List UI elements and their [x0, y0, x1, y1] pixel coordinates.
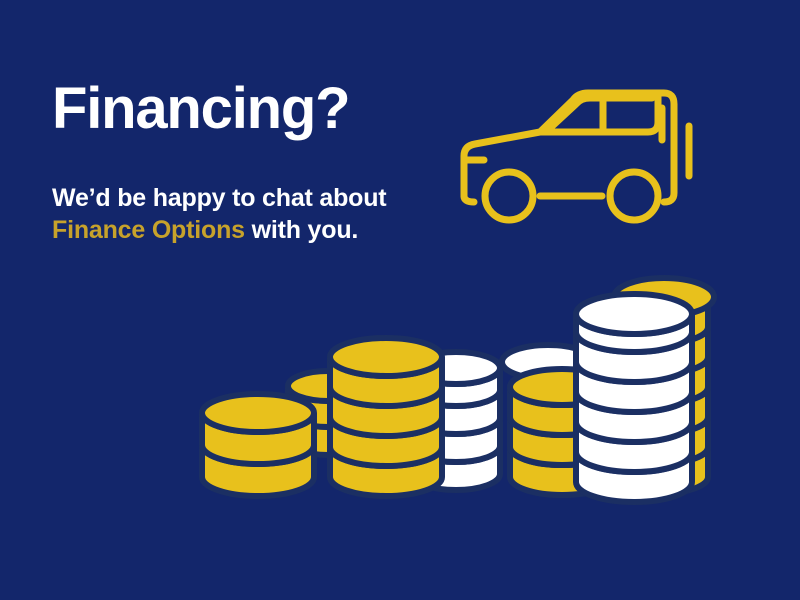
text-block: Financing? We’d be happy to chat about F… [52, 78, 432, 246]
page-title: Financing? [52, 78, 432, 140]
coin-stacks-icon [180, 262, 720, 512]
subtitle-lead: We’d be happy to chat about [52, 184, 386, 212]
finance-options-highlight: Finance Options [52, 216, 245, 244]
coins-illustration [180, 262, 720, 512]
suv-car-icon [452, 78, 724, 228]
subtitle-tail: with you. [245, 216, 358, 244]
coin-stack-medium [330, 338, 500, 496]
car-illustration [452, 78, 724, 228]
subtitle-text: We’d be happy to chat about Finance Opti… [52, 140, 432, 246]
coin-stack-large [502, 278, 714, 502]
slide-canvas: Financing? We’d be happy to chat about F… [0, 0, 800, 600]
